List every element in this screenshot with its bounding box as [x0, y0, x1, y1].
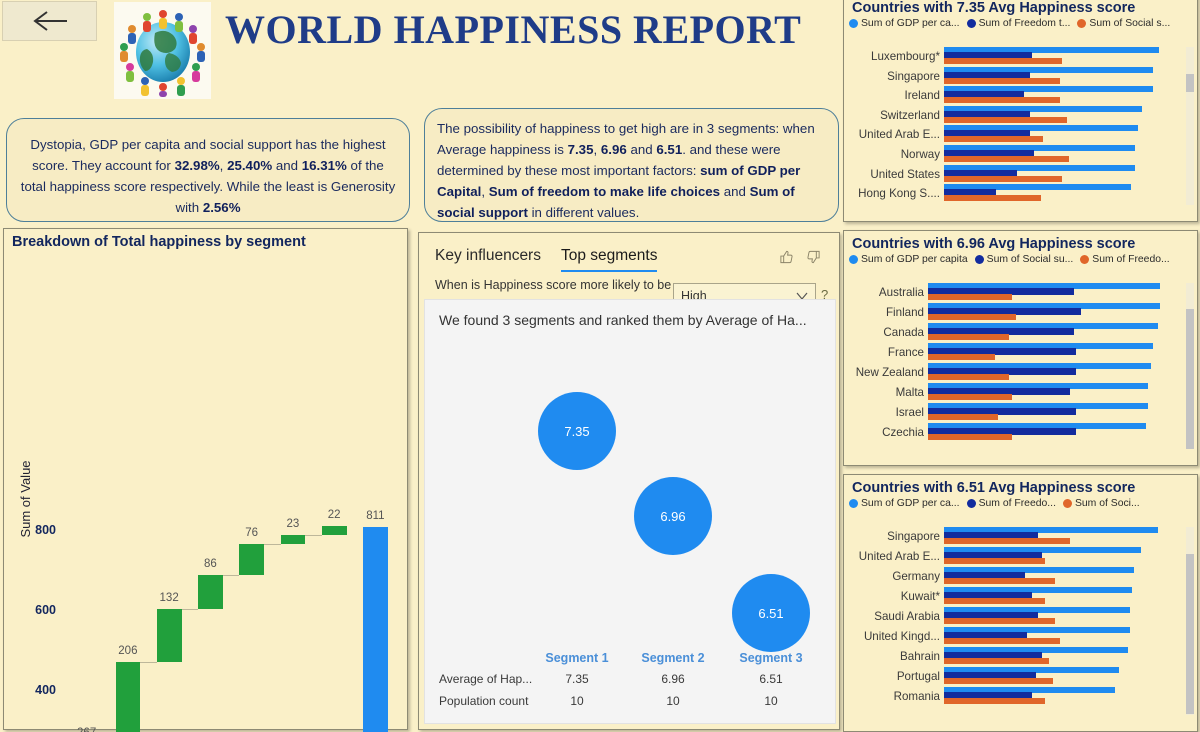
segment-column-header[interactable]: Segment 3 — [726, 651, 816, 665]
countries-panel-696: Countries with 6.96 Avg Happiness score … — [843, 230, 1198, 466]
bar-orange-series[interactable] — [944, 698, 1045, 704]
segment-table-cell: 10 — [628, 694, 718, 708]
bar-orange-series[interactable] — [944, 638, 1060, 644]
segment-row-label: Population count — [439, 694, 528, 708]
country-label[interactable]: Finland — [844, 306, 924, 319]
legend-label: Sum of Social su... — [987, 254, 1074, 265]
countries-panel-696-rows[interactable]: AustraliaFinlandCanadaFranceNew ZealandM… — [844, 265, 1197, 499]
country-label[interactable]: Norway — [844, 148, 940, 161]
callout-text: and — [720, 184, 750, 199]
callout-emphasis: 16.31% — [302, 158, 347, 173]
key-influencers-header: Key influencersTop segments When is Happ… — [419, 233, 839, 299]
waterfall-total-bar[interactable] — [363, 527, 388, 732]
segment-bubble[interactable]: 6.51 — [732, 574, 810, 652]
key-influencers-tabs: Key influencersTop segments — [435, 247, 657, 272]
legend-entry[interactable]: Sum of Freedo... — [967, 498, 1056, 509]
countries-panel-735: Countries with 7.35 Avg Happiness score … — [843, 0, 1198, 222]
back-arrow-icon — [31, 8, 69, 34]
country-label[interactable]: Kuwait* — [844, 590, 940, 603]
country-label[interactable]: Israel — [844, 406, 924, 419]
segment-table-cell: 6.51 — [726, 672, 816, 686]
callout-emphasis: 25.40% — [227, 158, 272, 173]
country-label[interactable]: France — [844, 346, 924, 359]
legend-label: Sum of Freedo... — [979, 498, 1056, 509]
bar-orange-series[interactable] — [944, 538, 1070, 544]
legend-label: Sum of Social s... — [1089, 18, 1170, 29]
bar-orange-series[interactable] — [928, 374, 1009, 380]
countries-panel-651-title: Countries with 6.51 Avg Happiness score — [844, 475, 1197, 496]
insight-callout-segments-share: Dystopia, GDP per capita and social supp… — [6, 118, 410, 222]
country-label[interactable]: Portugal — [844, 670, 940, 683]
countries-panel-651-legend: Sum of GDP per ca...Sum of Freedo...Sum … — [844, 496, 1197, 509]
callout-emphasis: 32.98% — [175, 158, 220, 173]
waterfall-plot-area[interactable]: 0200400600800267Dystopia206GDP per capit… — [4, 229, 409, 731]
waterfall-bar[interactable] — [116, 662, 141, 732]
waterfall-value-label: 132 — [143, 592, 196, 604]
countries-panel-651: Countries with 6.51 Avg Happiness score … — [843, 474, 1198, 732]
legend-entry[interactable]: Sum of GDP per ca... — [849, 18, 960, 29]
key-influencers-body: We found 3 segments and ranked them by A… — [424, 299, 836, 724]
bar-orange-series[interactable] — [944, 658, 1049, 664]
legend-color-dot — [1080, 255, 1089, 264]
callout-emphasis: 6.96 — [601, 142, 627, 157]
bar-orange-series[interactable] — [928, 334, 1009, 340]
waterfall-chart-panel: Breakdown of Total happiness by segment … — [3, 228, 408, 730]
segment-bubble[interactable]: 7.35 — [538, 392, 616, 470]
waterfall-y-tick: 400 — [22, 683, 56, 697]
legend-entry[interactable]: Sum of Soci... — [1063, 498, 1140, 509]
legend-color-dot — [849, 255, 858, 264]
country-label[interactable]: Romania — [844, 690, 940, 703]
country-label[interactable]: Saudi Arabia — [844, 610, 940, 623]
country-label[interactable]: Switzerland — [844, 109, 940, 122]
legend-label: Sum of Soci... — [1075, 498, 1140, 509]
key-influencers-panel: Key influencersTop segments When is Happ… — [418, 232, 840, 730]
feedback-icons — [779, 249, 821, 265]
vertical-scrollbar-thumb[interactable] — [1186, 554, 1194, 714]
vertical-scrollbar-thumb[interactable] — [1186, 74, 1194, 92]
tab-key-influencers[interactable]: Key influencers — [435, 247, 541, 272]
bar-orange-series[interactable] — [928, 434, 1012, 440]
country-label[interactable]: United Kingd... — [844, 630, 940, 643]
segment-row-label: Average of Hap... — [439, 672, 532, 686]
legend-entry[interactable]: Sum of Freedom t... — [967, 18, 1071, 29]
bar-orange-series[interactable] — [928, 354, 995, 360]
waterfall-value-label: 267 — [60, 727, 113, 732]
country-label[interactable]: New Zealand — [844, 366, 924, 379]
segment-table-cell: 10 — [532, 694, 622, 708]
countries-panel-651-rows[interactable]: SingaporeUnited Arab E...GermanyKuwait*S… — [844, 509, 1197, 732]
country-label[interactable]: Singapore — [844, 70, 940, 83]
country-label[interactable]: United Arab E... — [844, 128, 940, 141]
segment-table-cell: 6.96 — [628, 672, 718, 686]
country-label[interactable]: Czechia — [844, 426, 924, 439]
waterfall-connector — [264, 544, 281, 545]
vertical-scrollbar-thumb[interactable] — [1186, 309, 1194, 449]
bar-orange-series[interactable] — [944, 618, 1055, 624]
bar-orange-series[interactable] — [944, 156, 1069, 162]
country-label[interactable]: Singapore — [844, 530, 940, 543]
waterfall-bar[interactable] — [239, 544, 264, 574]
legend-color-dot — [1063, 499, 1072, 508]
bar-orange-series[interactable] — [944, 578, 1055, 584]
waterfall-connector — [140, 662, 157, 663]
bar-orange-series[interactable] — [944, 598, 1045, 604]
waterfall-y-axis-label: Sum of Value — [18, 460, 33, 537]
bar-orange-series[interactable] — [944, 176, 1062, 182]
segment-column-header[interactable]: Segment 2 — [628, 651, 718, 665]
legend-color-dot — [849, 19, 858, 28]
countries-panel-696-title: Countries with 6.96 Avg Happiness score — [844, 231, 1197, 252]
legend-color-dot — [967, 499, 976, 508]
thumbs-down-icon[interactable] — [806, 249, 821, 265]
callout-emphasis: 2.56% — [203, 200, 241, 215]
callout-text: , — [481, 184, 488, 199]
bar-orange-series[interactable] — [944, 678, 1053, 684]
dashboard-page: WORLD HAPPINESS REPORT Dystopia, GDP per… — [0, 0, 1200, 732]
waterfall-connector — [223, 575, 240, 576]
waterfall-value-label: 206 — [102, 645, 155, 657]
country-label[interactable]: Canada — [844, 326, 924, 339]
back-button[interactable] — [2, 1, 97, 41]
waterfall-bar[interactable] — [281, 535, 306, 544]
callout-text: and — [627, 142, 657, 157]
legend-color-dot — [967, 19, 976, 28]
bar-orange-series[interactable] — [944, 78, 1060, 84]
legend-label: Sum of GDP per ca... — [861, 498, 960, 509]
country-label[interactable]: Luxembourg* — [844, 50, 940, 63]
vertical-scrollbar-track[interactable] — [1186, 47, 1194, 205]
bar-orange-series[interactable] — [944, 117, 1067, 123]
segments-summary-text: We found 3 segments and ranked them by A… — [439, 312, 807, 328]
waterfall-bar[interactable] — [198, 575, 223, 609]
report-logo — [114, 2, 211, 99]
thumbs-up-icon[interactable] — [779, 249, 794, 265]
bar-orange-series[interactable] — [944, 195, 1041, 201]
waterfall-connector — [305, 535, 322, 536]
countries-panel-735-rows[interactable]: Luxembourg*SingaporeIrelandSwitzerlandUn… — [844, 29, 1197, 255]
waterfall-value-label: 811 — [349, 510, 402, 522]
segment-table-cell: 7.35 — [532, 672, 622, 686]
bar-orange-series[interactable] — [944, 58, 1062, 64]
callout-text: , — [593, 142, 600, 157]
segment-bubble[interactable]: 6.96 — [634, 477, 712, 555]
legend-entry[interactable]: Sum of GDP per capita — [849, 254, 968, 265]
country-label[interactable]: Bahrain — [844, 650, 940, 663]
bar-orange-series[interactable] — [928, 294, 1012, 300]
tab-top-segments[interactable]: Top segments — [561, 247, 658, 272]
countries-panel-696-legend: Sum of GDP per capitaSum of Social su...… — [844, 252, 1197, 265]
insight-callout-top-segments: The possibility of happiness to get high… — [424, 108, 839, 222]
callout-text: , — [220, 158, 227, 173]
legend-color-dot — [1077, 19, 1086, 28]
bar-orange-series[interactable] — [928, 394, 1012, 400]
bar-orange-series[interactable] — [928, 314, 1016, 320]
waterfall-bar[interactable] — [322, 526, 347, 535]
legend-color-dot — [849, 499, 858, 508]
country-label[interactable]: Malta — [844, 386, 924, 399]
key-influencers-question: When is Happiness score more likely to b… — [435, 277, 690, 293]
legend-entry[interactable]: Sum of Freedo... — [1080, 254, 1169, 265]
segment-table-cell: 10 — [726, 694, 816, 708]
segment-column-header[interactable]: Segment 1 — [532, 651, 622, 665]
bar-orange-series[interactable] — [928, 414, 998, 420]
legend-entry[interactable]: Sum of Social su... — [975, 254, 1074, 265]
waterfall-y-tick: 600 — [22, 603, 56, 617]
waterfall-bar[interactable] — [157, 609, 182, 662]
country-label[interactable]: Germany — [844, 570, 940, 583]
bar-orange-series[interactable] — [944, 136, 1043, 142]
callout-emphasis: 6.51 — [656, 142, 682, 157]
countries-panel-735-title: Countries with 7.35 Avg Happiness score — [844, 0, 1197, 16]
country-label[interactable]: United States — [844, 168, 940, 181]
bar-orange-series[interactable] — [944, 558, 1045, 564]
country-label[interactable]: Ireland — [844, 89, 940, 102]
legend-color-dot — [975, 255, 984, 264]
legend-label: Sum of GDP per capita — [861, 254, 968, 265]
callout-text: in different values. — [528, 205, 639, 220]
legend-label: Sum of Freedom t... — [979, 18, 1071, 29]
countries-panel-735-legend: Sum of GDP per ca...Sum of Freedom t...S… — [844, 16, 1197, 29]
world-globe-with-children-icon — [117, 5, 209, 97]
legend-label: Sum of GDP per ca... — [861, 18, 960, 29]
bar-orange-series[interactable] — [944, 97, 1060, 103]
legend-entry[interactable]: Sum of Social s... — [1077, 18, 1170, 29]
callout-text: and — [272, 158, 302, 173]
page-title: WORLD HAPPINESS REPORT — [225, 5, 825, 57]
callout-2-text: The possibility of happiness to get high… — [437, 118, 826, 223]
country-label[interactable]: United Arab E... — [844, 550, 940, 563]
country-label[interactable]: Australia — [844, 286, 924, 299]
waterfall-connector — [182, 609, 199, 610]
callout-1-text: Dystopia, GDP per capita and social supp… — [19, 128, 397, 218]
legend-label: Sum of Freedo... — [1092, 254, 1169, 265]
country-label[interactable]: Hong Kong S.... — [844, 187, 940, 200]
callout-emphasis: Sum of freedom to make life choices — [489, 184, 720, 199]
callout-emphasis: 7.35 — [568, 142, 594, 157]
waterfall-value-label: 86 — [184, 558, 237, 570]
legend-entry[interactable]: Sum of GDP per ca... — [849, 498, 960, 509]
